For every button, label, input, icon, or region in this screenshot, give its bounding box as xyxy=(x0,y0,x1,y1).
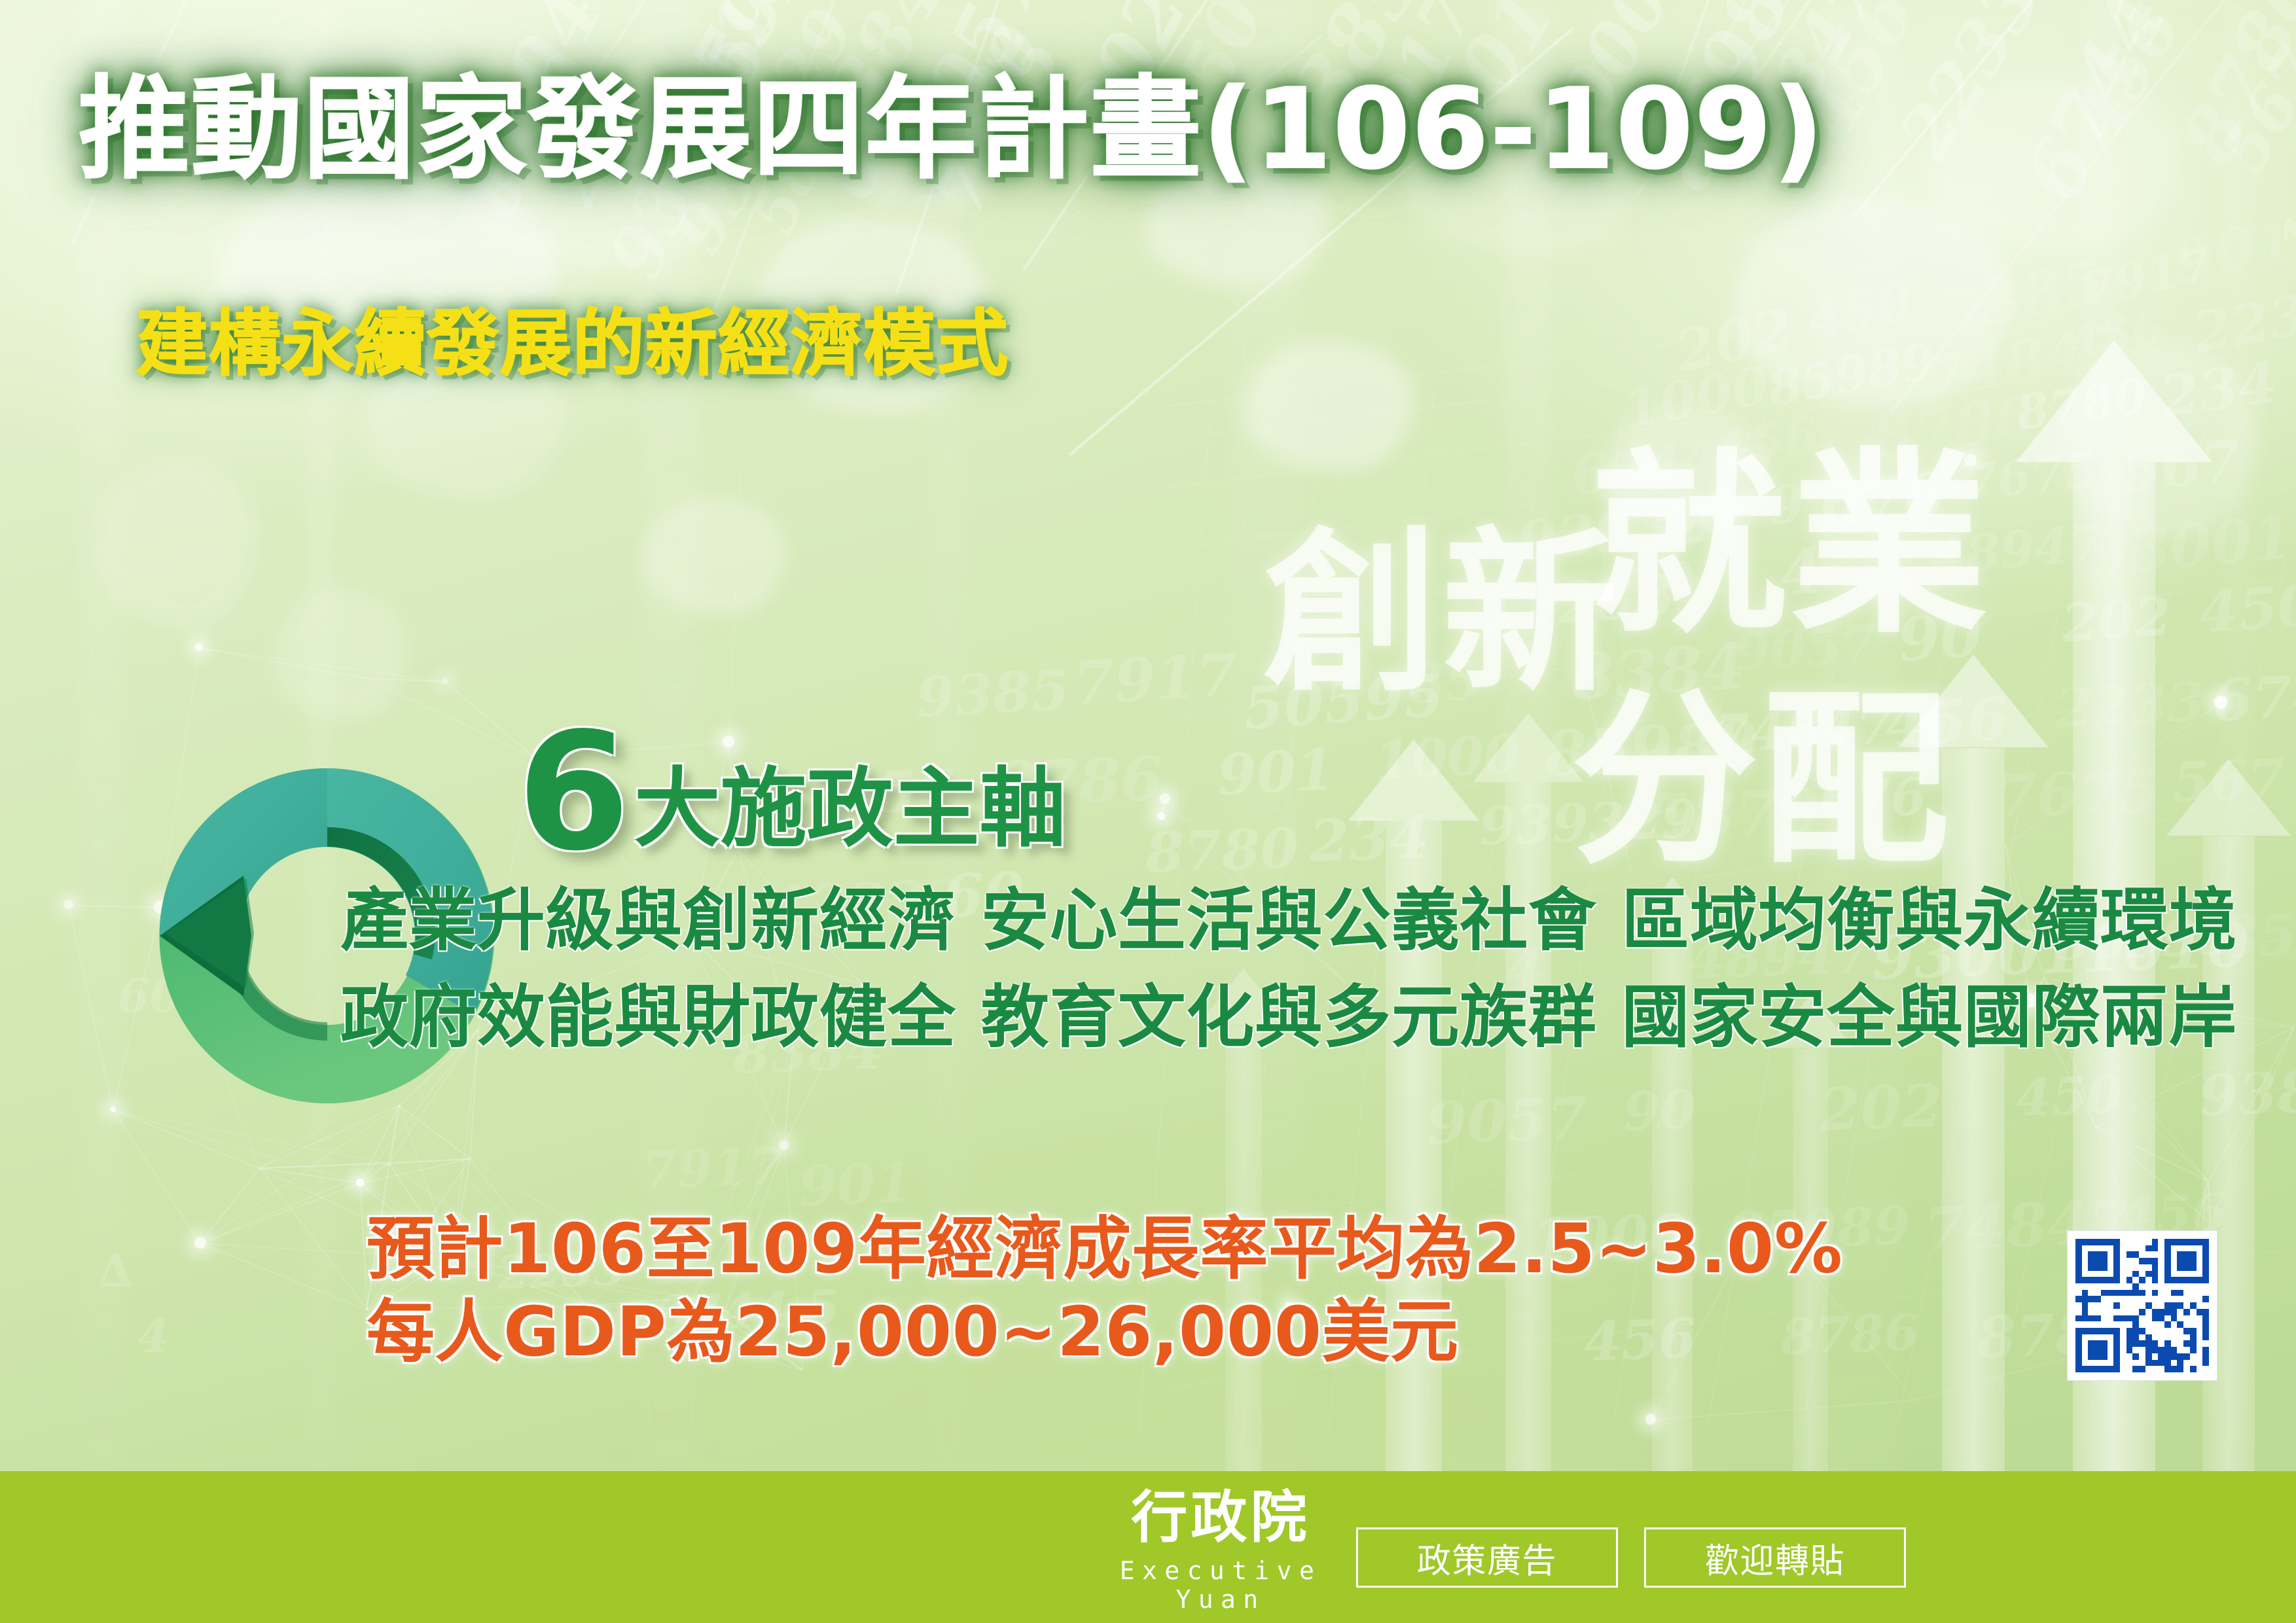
six-axes-label: 大施政主軸 xyxy=(634,766,1066,863)
page-title: 推動國家發展四年計畫(106-109) xyxy=(79,71,1825,188)
six-axes-heading: 6 大施政主軸 xyxy=(517,723,1066,863)
qr-code[interactable] xyxy=(2067,1230,2217,1381)
poster-root: 4894793001101050595858384905790202450938… xyxy=(0,0,2296,1623)
policy-ad-tag: 政策廣告 xyxy=(1356,1527,1618,1588)
axes-row: 政府效能與財政健全 教育文化與多元族群 國家安全與國際兩岸 xyxy=(340,980,2042,1054)
axis-item: 國家安全與國際兩岸 xyxy=(1621,980,2237,1054)
axis-item: 政府效能與財政健全 xyxy=(340,980,956,1054)
six-axes-number: 6 xyxy=(517,723,630,863)
axis-item: 產業升級與創新經濟 xyxy=(340,883,956,957)
economic-targets: 預計106至109年經濟成長率平均為2.5~3.0% 每人GDP為25,000~… xyxy=(367,1207,1843,1374)
axes-row: 產業升級與創新經濟 安心生活與公義社會 區域均衡與永續環境 xyxy=(340,883,2042,957)
watermark-word-employment: 就業 xyxy=(1590,386,1991,670)
target-gdp-per-capita: 每人GDP為25,000~26,000美元 xyxy=(367,1291,1843,1374)
axis-item: 區域均衡與永續環境 xyxy=(1621,883,2237,957)
six-axes-list: 產業升級與創新經濟 安心生活與公義社會 區域均衡與永續環境 政府效能與財政健全 … xyxy=(340,883,2042,1078)
page-subtitle: 建構永續發展的新經濟模式 xyxy=(136,306,1009,382)
watermark-word-innovation: 創新 xyxy=(1263,471,1621,725)
executive-yuan-logo: 行政院 Executive Yuan xyxy=(1113,1489,1329,1614)
share-welcome-tag: 歡迎轉貼 xyxy=(1644,1527,1906,1588)
footer-bar: 行政院 Executive Yuan 政策廣告 歡迎轉貼 CC ♟ $ = . … xyxy=(0,1471,2296,1623)
watermark-word-distribution: 分配 xyxy=(1571,628,1952,899)
axis-item: 教育文化與多元族群 xyxy=(981,980,1597,1054)
axis-item: 安心生活與公義社會 xyxy=(981,883,1597,957)
target-growth-rate: 預計106至109年經濟成長率平均為2.5~3.0% xyxy=(367,1207,1843,1291)
agency-name-en: Executive Yuan xyxy=(1113,1556,1329,1614)
agency-name-cn: 行政院 xyxy=(1113,1489,1329,1546)
